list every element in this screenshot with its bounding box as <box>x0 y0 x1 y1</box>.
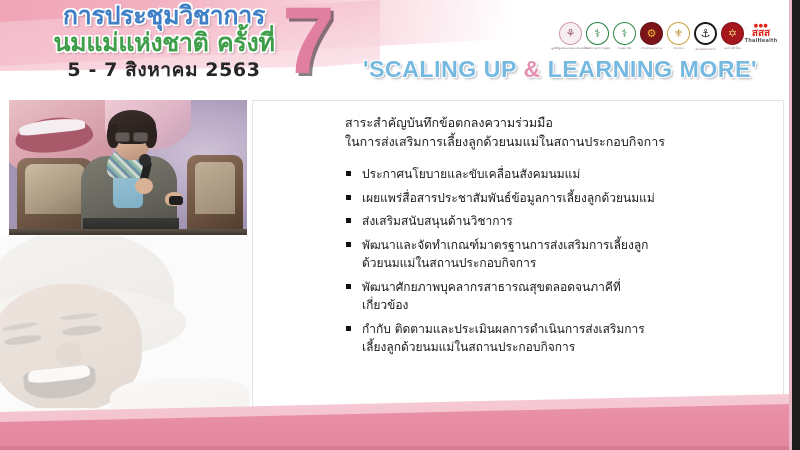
bullet-line2: เกี่ยวข้อง <box>362 296 765 315</box>
logo-caption: สภาอุตสาหกรรม <box>695 48 715 51</box>
tagline-part-after: LEARNING MORE' <box>541 56 757 82</box>
square-bullet-icon <box>346 284 351 289</box>
bullet-line1: กำกับ ติดตามและประเมินผลการดำเนินการส่งเ… <box>362 322 645 336</box>
thaihealth-subtext: ThaiHealth <box>745 39 778 44</box>
speaker-eyeglass-left <box>115 132 130 142</box>
stage-chair-right-cushion <box>195 162 235 214</box>
stage-floor <box>9 229 247 235</box>
bullet-line1: เผยแพร่สื่อสารประชาสัมพันธ์ข้อมูลการเลี้… <box>362 191 655 205</box>
emblem-icon: ⚓ <box>701 28 711 39</box>
logo-caption: กรมอนามัย <box>618 47 632 50</box>
list-item: กำกับ ติดตามและประเมินผลการดำเนินการส่งเ… <box>345 320 765 357</box>
logo-caption: มูลนิธิศูนย์นมแม่แห่งประเทศไทย <box>551 47 590 50</box>
conference-title-line2: นมแม่แห่งชาติ ครั้งที่ <box>14 29 314 57</box>
tagline-part-before: 'SCALING UP <box>363 56 524 82</box>
presentation-slide: 7 การประชุมวิชาการ นมแม่แห่งชาติ ครั้งที… <box>0 0 800 450</box>
speaker-hand-holding-mic <box>135 178 153 194</box>
footer-band-edge <box>0 446 792 450</box>
stage-chair-left-cushion <box>25 164 85 214</box>
tagline-ampersand: & <box>524 56 541 82</box>
thaihealth-wordmark: สสส <box>752 29 770 39</box>
square-bullet-icon <box>346 242 351 247</box>
slide-content-panel: สาระสำคัญบันทึกข้อตกลงความร่วมมือ ในการส… <box>252 100 784 412</box>
slide-header-banner: 7 การประชุมวิชาการ นมแม่แห่งชาติ ครั้งที… <box>0 0 792 95</box>
caduceus-icon: ⚕ <box>595 28 601 39</box>
logo-department-of-health: ⚕ กรมอนามัย <box>613 22 636 45</box>
bullet-line2: ด้วยนมแม่ในสถานประกอบกิจการ <box>362 254 765 273</box>
bullet-line1: พัฒนาศักยภาพบุคลากรสาธารณสุขตลอดจนภาคีที… <box>362 280 621 294</box>
content-bullet-list: ประกาศนโยบายและขับเคลื่อนสังคมนมแม่ เผยแ… <box>345 165 765 357</box>
list-item: พัฒนาและจัดทำเกณฑ์มาตรฐานการส่งเสริมการเ… <box>345 236 765 273</box>
slide-right-dark-edge <box>792 0 800 450</box>
gear-icon: ⚙ <box>647 28 657 39</box>
child-nose <box>56 342 82 366</box>
royal-seal-icon: ⚘ <box>566 28 576 39</box>
speaker-eyeglass-right <box>133 132 148 142</box>
garuda-icon: ⚜ <box>674 28 684 39</box>
logo-royal-seal: ⚘ มูลนิธิศูนย์นมแม่แห่งประเทศไทย <box>559 22 582 45</box>
square-bullet-icon <box>346 218 351 223</box>
logo-caption: กระทรวงสาธารณสุข <box>585 47 610 50</box>
logo-black-emblem: ⚓ สภาอุตสาหกรรม <box>694 22 717 45</box>
conference-title-block: การประชุมวิชาการ นมแม่แห่งชาติ ครั้งที่ … <box>14 2 314 81</box>
logo-caption: กระทรวงแรงงาน <box>641 47 661 50</box>
list-item: ประกาศนโยบายและขับเคลื่อนสังคมนมแม่ <box>345 165 765 184</box>
partner-logos-row: ⚘ มูลนิธิศูนย์นมแม่แห่งประเทศไทย ⚕ กระทร… <box>559 22 774 45</box>
conference-speaker-video[interactable] <box>9 100 247 235</box>
list-item: พัฒนาศักยภาพบุคลากรสาธารณสุขตลอดจนภาคีที… <box>345 278 765 315</box>
square-bullet-icon <box>346 195 351 200</box>
slide-content-inner: สาระสำคัญบันทึกข้อตกลงความร่วมมือ ในการส… <box>345 113 765 362</box>
content-heading: สาระสำคัญบันทึกข้อตกลงความร่วมมือ ในการส… <box>345 113 765 151</box>
logo-ministry-of-labour: ⚙ กระทรวงแรงงาน <box>640 22 663 45</box>
logo-ministry-of-public-health: ⚕ กระทรวงสาธารณสุข <box>586 22 609 45</box>
logo-thaihealth: ●●● สสส ThaiHealth <box>748 22 774 45</box>
list-item: เผยแพร่สื่อสารประชาสัมพันธ์ข้อมูลการเลี้… <box>345 189 765 208</box>
conference-tagline: 'SCALING UP & LEARNING MORE' <box>363 56 757 82</box>
conference-title-line1: การประชุมวิชาการ <box>14 2 314 29</box>
content-heading-line1: สาระสำคัญบันทึกข้อตกลงความร่วมมือ <box>345 113 765 132</box>
conference-date: 5 - 7 สิงหาคม 2563 <box>14 59 314 81</box>
content-heading-line2: ในการส่งเสริมการเลี้ยงลูกด้วยนมแม่ในสถาน… <box>345 132 765 151</box>
bullet-line2: เลี้ยงลูกด้วยนมแม่ในสถานประกอบกิจการ <box>362 338 765 357</box>
bullet-line1: ประกาศนโยบายและขับเคลื่อนสังคมนมแม่ <box>362 167 580 181</box>
bullet-line1: ส่งเสริมสนับสนุนด้านวิชาการ <box>362 214 513 228</box>
list-item: ส่งเสริมสนับสนุนด้านวิชาการ <box>345 212 765 231</box>
caduceus-icon: ⚕ <box>622 28 628 39</box>
logo-red-emblem: ✡ หอการค้าไทย <box>721 22 744 45</box>
emblem-icon: ✡ <box>728 28 737 39</box>
logo-caption: หอการค้าไทย <box>724 47 740 50</box>
logo-caption: กระทรวง <box>673 47 684 50</box>
microphone-head-icon <box>139 154 151 166</box>
bullet-line1: พัฒนาและจัดทำเกณฑ์มาตรฐานการส่งเสริมการเ… <box>362 238 648 252</box>
logo-royal-garuda: ⚜ กระทรวง <box>667 22 690 45</box>
presentation-clicker <box>169 196 183 205</box>
square-bullet-icon <box>346 171 351 176</box>
square-bullet-icon <box>346 326 351 331</box>
slide-footer-band <box>0 390 792 450</box>
